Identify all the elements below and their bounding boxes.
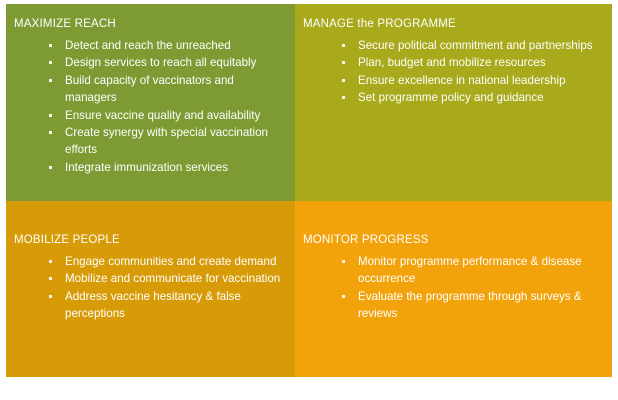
bullet-text: Ensure excellence in national leadership [358, 74, 566, 87]
bullet-point-icon [49, 61, 52, 64]
bullet-point-icon [342, 79, 345, 82]
strategy-matrix: MAXIMIZE REACH Detect and reach the unre… [6, 4, 612, 377]
bullet-item: Ensure vaccine quality and availability [43, 107, 285, 124]
bullet-point-icon [342, 295, 345, 298]
bullet-item: Monitor programme performance & disease … [336, 253, 604, 288]
bullet-point-icon [49, 79, 52, 82]
bullet-item: Secure political commitment and partners… [336, 37, 604, 54]
bullet-point-icon [49, 295, 52, 298]
bullet-item: Build capacity of vaccinators and manage… [43, 72, 285, 107]
bullet-point-icon [49, 277, 52, 280]
bullet-text: Monitor programme performance & disease … [358, 255, 582, 285]
bullet-text: Integrate immunization services [65, 161, 228, 174]
bullet-item: Evaluate the programme through surveys &… [336, 288, 604, 323]
bullet-item: Plan, budget and mobilize resources [336, 54, 604, 71]
quadrant-heading-manage-programme: MANAGE the PROGRAMME [303, 17, 604, 31]
bullet-item: Integrate immunization services [43, 159, 285, 176]
bullet-list-mobilize-people: Engage communities and create demandMobi… [14, 253, 285, 323]
bullet-list-manage-programme: Secure political commitment and partners… [303, 37, 604, 107]
bullet-item: Detect and reach the unreached [43, 37, 285, 54]
bullet-list-maximize-reach: Detect and reach the unreachedDesign ser… [14, 37, 285, 176]
bullet-text: Create synergy with special vaccination … [65, 126, 268, 156]
quadrant-mobilize-people: MOBILIZE PEOPLE Engage communities and c… [6, 201, 295, 377]
bullet-item: Mobilize and communicate for vaccination [43, 270, 285, 287]
bullet-text: Address vaccine hesitancy & false percep… [65, 290, 241, 320]
bullet-point-icon [342, 96, 345, 99]
bullet-point-icon [49, 114, 52, 117]
bullet-text: Set programme policy and guidance [358, 91, 544, 104]
bullet-text: Evaluate the programme through surveys &… [358, 290, 582, 320]
quadrant-monitor-progress: MONITOR PROGRESS Monitor programme perfo… [295, 201, 612, 377]
quadrant-manage-programme: MANAGE the PROGRAMME Secure political co… [295, 4, 612, 201]
quadrant-heading-monitor-progress: MONITOR PROGRESS [303, 233, 604, 247]
bullet-text: Plan, budget and mobilize resources [358, 56, 546, 69]
quadrant-heading-mobilize-people: MOBILIZE PEOPLE [14, 233, 285, 247]
bullet-item: Create synergy with special vaccination … [43, 124, 285, 159]
bullet-point-icon [49, 166, 52, 169]
bullet-text: Ensure vaccine quality and availability [65, 109, 260, 122]
bullet-text: Build capacity of vaccinators and manage… [65, 74, 234, 104]
bullet-text: Secure political commitment and partners… [358, 39, 593, 52]
bullet-point-icon [49, 44, 52, 47]
bullet-text: Detect and reach the unreached [65, 39, 231, 52]
bullet-item: Ensure excellence in national leadership [336, 72, 604, 89]
bullet-item: Address vaccine hesitancy & false percep… [43, 288, 285, 323]
quadrant-maximize-reach: MAXIMIZE REACH Detect and reach the unre… [6, 4, 295, 201]
bullet-point-icon [342, 44, 345, 47]
bullet-text: Engage communities and create demand [65, 255, 276, 268]
bullet-point-icon [342, 260, 345, 263]
diagram-canvas: MAXIMIZE REACH Detect and reach the unre… [0, 0, 618, 400]
bullet-text: Mobilize and communicate for vaccination [65, 272, 280, 285]
bullet-point-icon [49, 260, 52, 263]
bullet-point-icon [49, 131, 52, 134]
bullet-point-icon [342, 61, 345, 64]
bullet-list-monitor-progress: Monitor programme performance & disease … [303, 253, 604, 323]
quadrant-heading-maximize-reach: MAXIMIZE REACH [14, 17, 285, 31]
bullet-item: Design services to reach all equitably [43, 54, 285, 71]
bullet-item: Set programme policy and guidance [336, 89, 604, 106]
bullet-item: Engage communities and create demand [43, 253, 285, 270]
bullet-text: Design services to reach all equitably [65, 56, 256, 69]
